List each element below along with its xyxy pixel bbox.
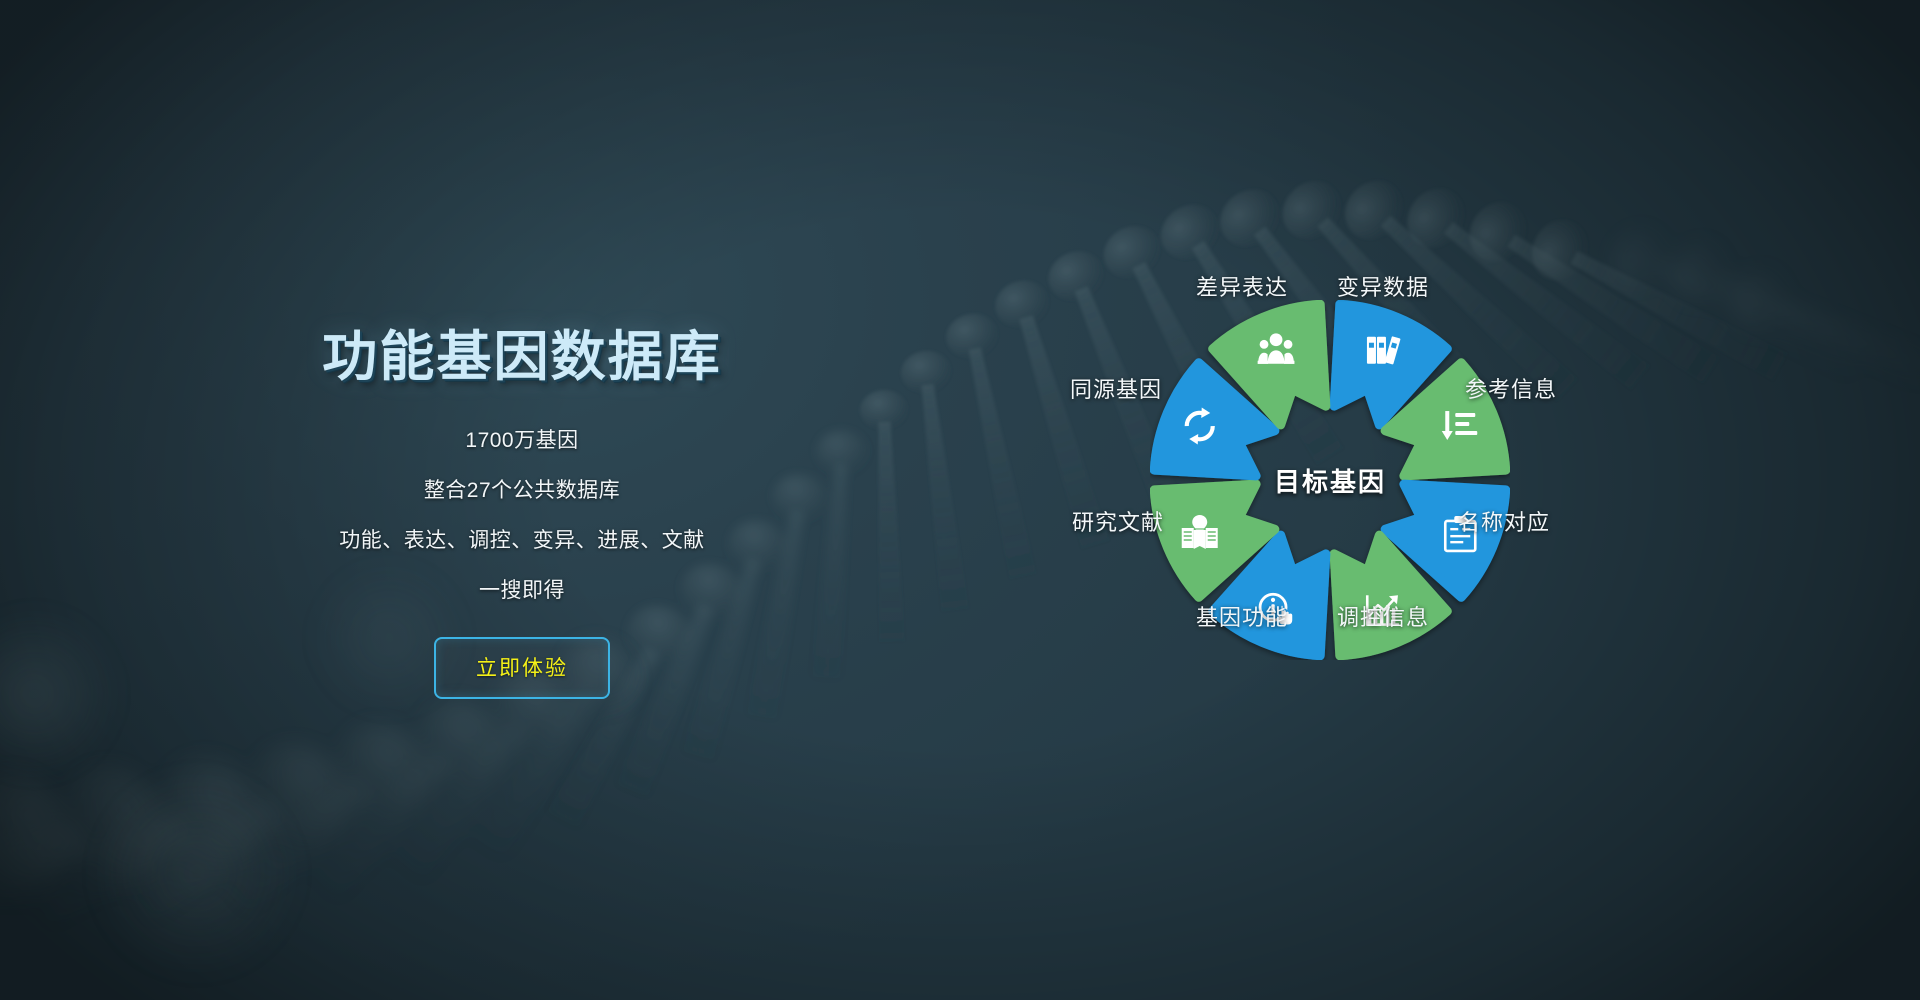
wheel-label-variation-data[interactable]: 变异数据 (1337, 270, 1429, 302)
wheel-label-gene-function[interactable]: 基因功能 (1196, 600, 1288, 632)
hero-line-2: 整合27个公共数据库 (282, 480, 762, 501)
hero-line-1: 1700万基因 (282, 430, 762, 451)
wheel-label-homologous-genes[interactable]: 同源基因 (1070, 372, 1162, 404)
gene-feature-wheel: 目标基因 变异数据 参考信息 名称对应 调控信息 基因功能 研究文献 同源基因 … (1010, 260, 1550, 720)
wheel-label-research-papers[interactable]: 研究文献 (1072, 505, 1164, 537)
wheel-label-differential-expression[interactable]: 差异表达 (1196, 270, 1288, 302)
wheel-label-regulation-info[interactable]: 调控信息 (1337, 600, 1429, 632)
page-title: 功能基因数据库 (277, 330, 767, 384)
hero-line-4: 一搜即得 (282, 580, 762, 601)
hero-line-3: 功能、表达、调控、变异、进展、文献 (282, 530, 762, 551)
hero-text-panel: 功能基因数据库 1700万基因 整合27个公共数据库 功能、表达、调控、变异、进… (282, 330, 762, 699)
wheel-label-name-mapping[interactable]: 名称对应 (1458, 505, 1550, 537)
try-now-button[interactable]: 立即体验 (434, 637, 610, 699)
wheel-label-reference-info[interactable]: 参考信息 (1465, 372, 1557, 404)
